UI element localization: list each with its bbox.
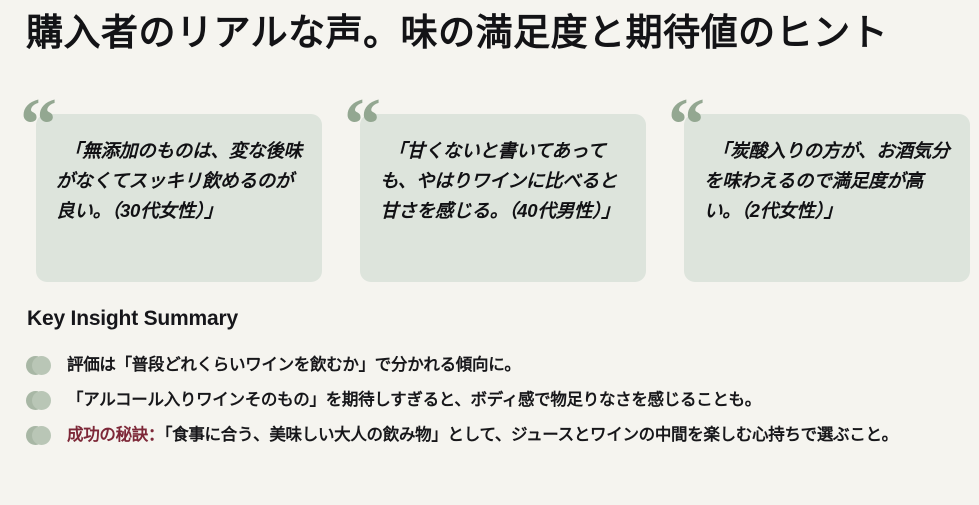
quote-text: 「甘くないと書いてあっても、やはりワインに比べると甘さを感じる。（40代男性）」 (380, 136, 626, 226)
quote-text: 「炭酸入りの方が、お酒気分を味わえるので満足度が高い。（2代女性）」 (704, 136, 950, 226)
list-item: 評価は「普段どれくらいワインを飲むか」で分かれる傾向に。 (24, 352, 964, 379)
key-insight-list: 評価は「普段どれくらいワインを飲むか」で分かれる傾向に。 「アルコール入りワイン… (24, 352, 964, 449)
list-item-lead: 成功の秘訣： (67, 426, 164, 444)
list-item-text: 「アルコール入りワインそのもの」を期待しすぎると、ボディ感で物足りなさを感じるこ… (67, 391, 761, 409)
quote-card: “ 「無添加のものは、変な後味がなくてスッキリ飲めるのが良い。（30代女性）」 (22, 110, 314, 282)
quote-open-icon: “ (344, 88, 378, 162)
list-item-text: 「食事に合う、美味しい大人の飲み物」として、ジュースとワインの中間を楽しむ心持ち… (164, 426, 898, 444)
double-circle-bullet-icon (26, 391, 52, 411)
quote-open-icon: “ (20, 88, 54, 162)
double-circle-bullet-icon (26, 356, 52, 376)
double-circle-bullet-icon (26, 426, 52, 446)
quote-text: 「無添加のものは、変な後味がなくてスッキリ飲めるのが良い。（30代女性）」 (56, 136, 302, 226)
list-item: 成功の秘訣：「食事に合う、美味しい大人の飲み物」として、ジュースとワインの中間を… (24, 422, 964, 449)
slide-canvas: 購入者のリアルな声。味の満足度と期待値のヒント “ 「無添加のものは、変な後味が… (0, 0, 979, 505)
quote-card: “ 「炭酸入りの方が、お酒気分を味わえるので満足度が高い。（2代女性）」 (670, 110, 962, 282)
page-title: 購入者のリアルな声。味の満足度と期待値のヒント (26, 8, 956, 60)
key-insight-heading: Key Insight Summary (27, 307, 238, 331)
quote-card-row: “ 「無添加のものは、変な後味がなくてスッキリ飲めるのが良い。（30代女性）」 … (22, 110, 962, 282)
list-item-text: 評価は「普段どれくらいワインを飲むか」で分かれる傾向に。 (67, 356, 521, 374)
quote-open-icon: “ (668, 88, 702, 162)
quote-card: “ 「甘くないと書いてあっても、やはりワインに比べると甘さを感じる。（40代男性… (346, 110, 638, 282)
list-item: 「アルコール入りワインそのもの」を期待しすぎると、ボディ感で物足りなさを感じるこ… (24, 387, 964, 414)
